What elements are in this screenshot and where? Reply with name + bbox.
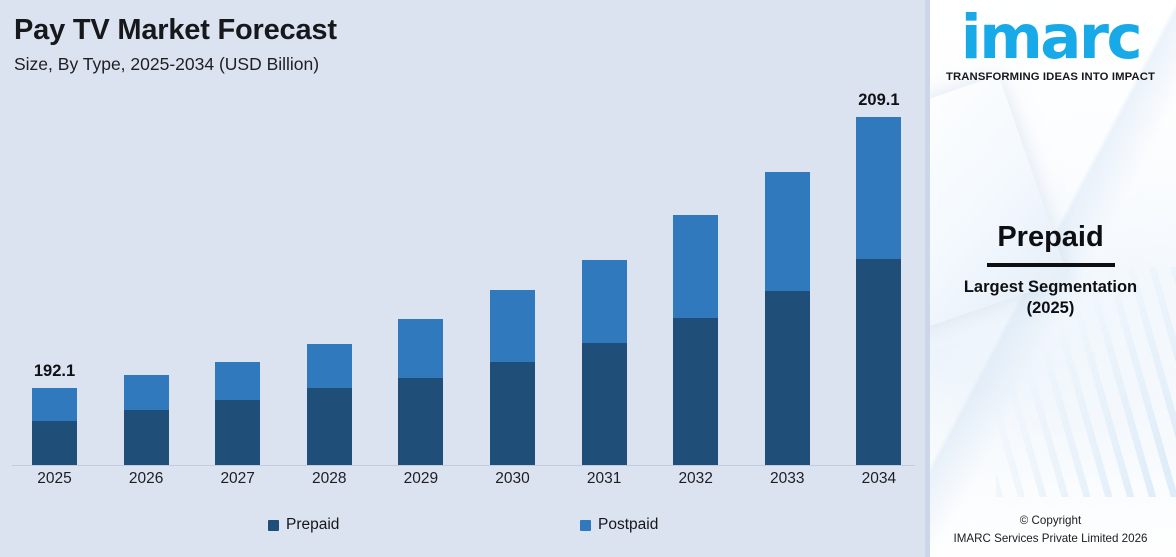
bar-segment-postpaid-2028[interactable] xyxy=(307,344,352,388)
legend-swatch-icon-prepaid xyxy=(268,520,279,531)
x-axis-label-2028: 2028 xyxy=(283,470,375,488)
x-axis-label-2026: 2026 xyxy=(100,470,192,488)
bar-segment-prepaid-2033[interactable] xyxy=(765,291,810,465)
bar-2028[interactable] xyxy=(307,344,352,465)
bar-segment-prepaid-2034[interactable] xyxy=(856,259,901,465)
imarc-logo: imarc TRANSFORMING IDEAS INTO IMPACT xyxy=(925,8,1176,83)
page-title: Pay TV Market Forecast xyxy=(14,14,337,48)
x-axis-label-2031: 2031 xyxy=(558,470,650,488)
bar-2033[interactable] xyxy=(765,172,810,465)
bar-2034[interactable] xyxy=(856,117,901,465)
bar-segment-postpaid-2032[interactable] xyxy=(673,215,718,318)
bar-segment-prepaid-2026[interactable] xyxy=(124,410,169,465)
bar-segment-prepaid-2029[interactable] xyxy=(398,378,443,465)
highlight-caption-line2: (2025) xyxy=(925,298,1176,319)
brand-panel: imarc TRANSFORMING IDEAS INTO IMPACT Pre… xyxy=(925,0,1176,557)
bar-segment-postpaid-2030[interactable] xyxy=(490,290,535,362)
bar-segment-prepaid-2031[interactable] xyxy=(582,343,627,465)
x-axis-label-2027: 2027 xyxy=(192,470,284,488)
bar-value-label-2034: 209.1 xyxy=(858,91,899,110)
imarc-logo-icon: imarc xyxy=(961,8,1140,68)
bar-2030[interactable] xyxy=(490,290,535,465)
plot-area: 192.1209.1 xyxy=(0,100,925,466)
x-axis-label-2032: 2032 xyxy=(650,470,742,488)
legend-item-prepaid[interactable]: Prepaid xyxy=(268,516,339,534)
bar-segment-postpaid-2025[interactable] xyxy=(32,388,77,421)
bar-segment-prepaid-2032[interactable] xyxy=(673,318,718,465)
bar-segment-postpaid-2026[interactable] xyxy=(124,375,169,410)
highlight-divider xyxy=(987,263,1115,267)
legend-swatch-icon-postpaid xyxy=(580,520,591,531)
x-axis-labels: 2025202620272028202920302031203220332034 xyxy=(0,470,925,498)
bar-2026[interactable] xyxy=(124,375,169,465)
x-axis-label-2033: 2033 xyxy=(741,470,833,488)
bar-segment-prepaid-2030[interactable] xyxy=(490,362,535,465)
x-axis-label-2029: 2029 xyxy=(375,470,467,488)
highlight-callout: Prepaid Largest Segmentation (2025) xyxy=(925,222,1176,319)
bar-2027[interactable] xyxy=(215,362,260,465)
bar-segment-postpaid-2031[interactable] xyxy=(582,260,627,343)
highlight-value: Prepaid xyxy=(925,222,1176,254)
x-axis-line xyxy=(12,465,915,467)
bar-segment-postpaid-2034[interactable] xyxy=(856,117,901,259)
title-block: Pay TV Market Forecast Size, By Type, 20… xyxy=(14,14,337,75)
bar-2032[interactable] xyxy=(673,215,718,465)
legend-item-postpaid[interactable]: Postpaid xyxy=(580,516,658,534)
x-axis-label-2034: 2034 xyxy=(833,470,925,488)
copyright-line-1: © Copyright xyxy=(925,512,1176,529)
legend-label-prepaid: Prepaid xyxy=(286,516,339,534)
bar-segment-postpaid-2033[interactable] xyxy=(765,172,810,291)
bar-segment-prepaid-2027[interactable] xyxy=(215,400,260,465)
bar-2025[interactable] xyxy=(32,388,77,465)
bar-2031[interactable] xyxy=(582,260,627,465)
bar-segment-prepaid-2025[interactable] xyxy=(32,421,77,465)
highlight-caption-line1: Largest Segmentation xyxy=(925,277,1176,298)
copyright-line-2: IMARC Services Private Limited 2026 xyxy=(925,530,1176,547)
x-axis-label-2025: 2025 xyxy=(9,470,101,488)
bar-2029[interactable] xyxy=(398,319,443,465)
bar-segment-prepaid-2028[interactable] xyxy=(307,388,352,465)
copyright-notice: © Copyright IMARC Services Private Limit… xyxy=(925,512,1176,547)
chart-panel: Pay TV Market Forecast Size, By Type, 20… xyxy=(0,0,925,557)
chart-legend: PrepaidPostpaid xyxy=(0,516,925,544)
bar-value-label-2025: 192.1 xyxy=(34,362,75,381)
bar-segment-postpaid-2029[interactable] xyxy=(398,319,443,378)
bar-segment-postpaid-2027[interactable] xyxy=(215,362,260,400)
page-subtitle: Size, By Type, 2025-2034 (USD Billion) xyxy=(14,54,337,75)
x-axis-label-2030: 2030 xyxy=(467,470,559,488)
infographic-root: Pay TV Market Forecast Size, By Type, 20… xyxy=(0,0,1176,557)
legend-label-postpaid: Postpaid xyxy=(598,516,658,534)
